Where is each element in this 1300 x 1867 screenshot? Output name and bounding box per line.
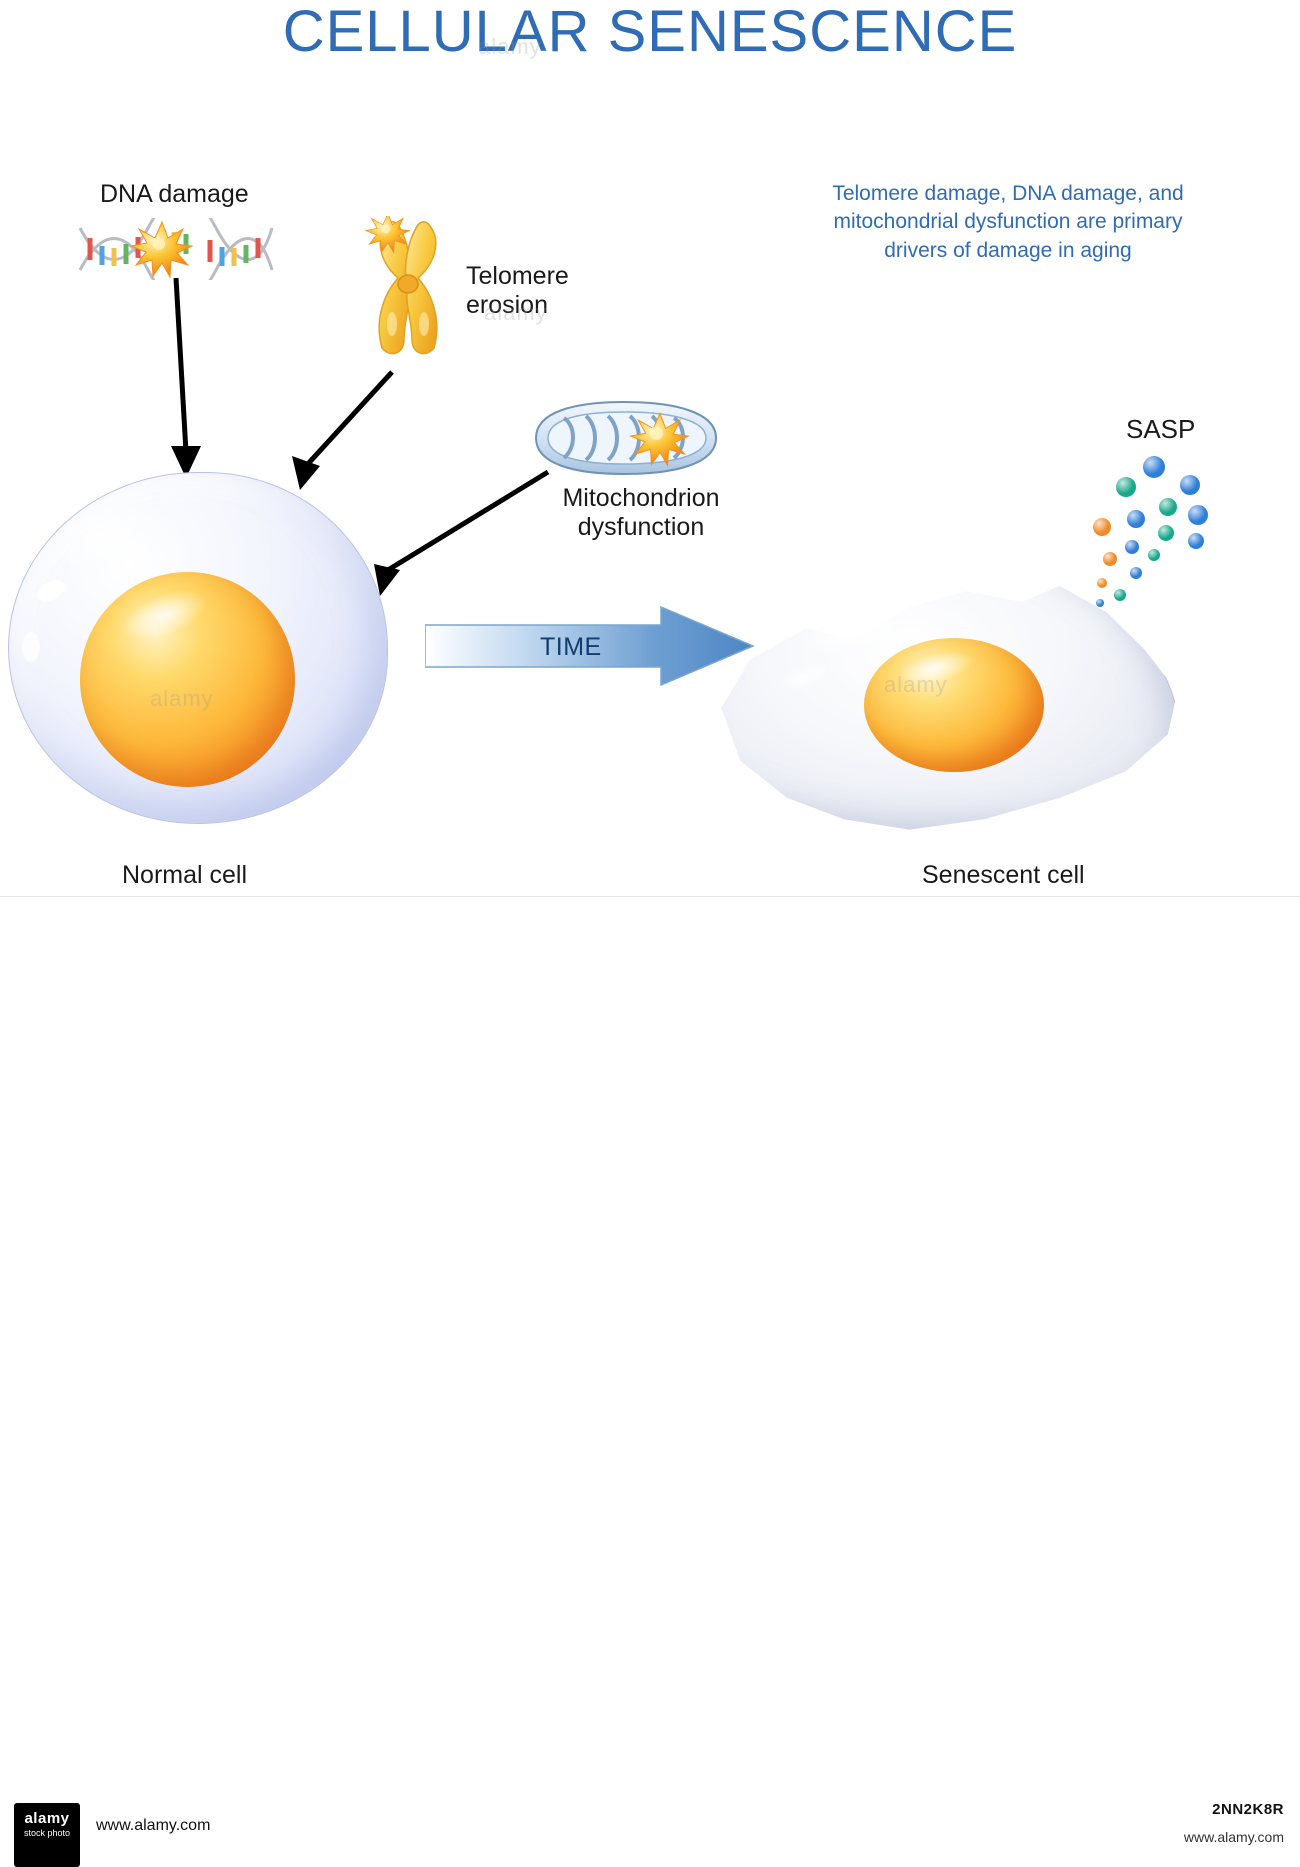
diagram-canvas: CELLULAR SENESCENCE — [0, 0, 1300, 979]
time-arrow-label: TIME — [540, 633, 602, 662]
sasp-particle — [1188, 505, 1208, 525]
normal-cell-illustration — [8, 472, 388, 824]
telomere-erosion-label-line1: Telomere — [466, 262, 569, 291]
dna-damage-label: DNA damage — [100, 180, 249, 209]
mitochondrion-label-line1: Mitochondrion — [551, 484, 731, 513]
sasp-particle — [1159, 498, 1177, 516]
sasp-particles-icon — [1080, 455, 1220, 620]
sasp-particle — [1116, 477, 1136, 497]
sasp-particle — [1143, 456, 1165, 478]
telomere-erosion-label-line2: erosion — [466, 291, 569, 320]
sasp-particle — [1097, 578, 1107, 588]
mitochondrion-label-line2: dysfunction — [551, 513, 731, 542]
sasp-particle — [1114, 589, 1126, 601]
page-title: CELLULAR SENESCENCE — [0, 0, 1300, 65]
footer-url: www.alamy.com — [1184, 1829, 1284, 1845]
sasp-particle — [1096, 599, 1104, 607]
alamy-logo-subtext: stock photo — [14, 1827, 80, 1838]
mitochondrion-dysfunction-label: Mitochondrion dysfunction — [551, 484, 731, 542]
sasp-particle — [1130, 567, 1142, 579]
alamy-logo-text: alamy — [24, 1810, 69, 1827]
sasp-particle — [1148, 549, 1160, 561]
alamy-footer: alamy stock photo www.alamy.com 2NN2K8R … — [0, 896, 1300, 979]
sasp-particle — [1093, 518, 1111, 536]
sasp-particle — [1125, 540, 1139, 554]
membrane-highlight — [22, 632, 40, 662]
sasp-particle — [1188, 533, 1204, 549]
arrow-mitochondrion-to-cell — [374, 472, 548, 596]
chromosome-icon — [364, 216, 452, 362]
sasp-particle — [1180, 475, 1200, 495]
sasp-particle — [1127, 510, 1145, 528]
primary-drivers-note: Telomere damage, DNA damage, and mitocho… — [808, 180, 1208, 265]
senescent-cell-label: Senescent cell — [922, 861, 1085, 890]
sasp-particle — [1158, 525, 1174, 541]
footer-site-text: www.alamy.com — [96, 1817, 210, 1835]
sasp-label: SASP — [1126, 415, 1195, 445]
sasp-particle — [1103, 552, 1117, 566]
damage-burst-icon — [131, 222, 192, 277]
telomere-erosion-label: Telomere erosion — [466, 262, 569, 320]
normal-cell-label: Normal cell — [122, 861, 247, 890]
alamy-logo: alamy stock photo — [14, 1803, 80, 1867]
arrow-dna-to-cell — [171, 278, 201, 478]
mitochondrion-icon — [520, 398, 728, 478]
footer-image-id: 2NN2K8R — [1212, 1801, 1284, 1818]
dna-helix-icon — [78, 218, 274, 280]
